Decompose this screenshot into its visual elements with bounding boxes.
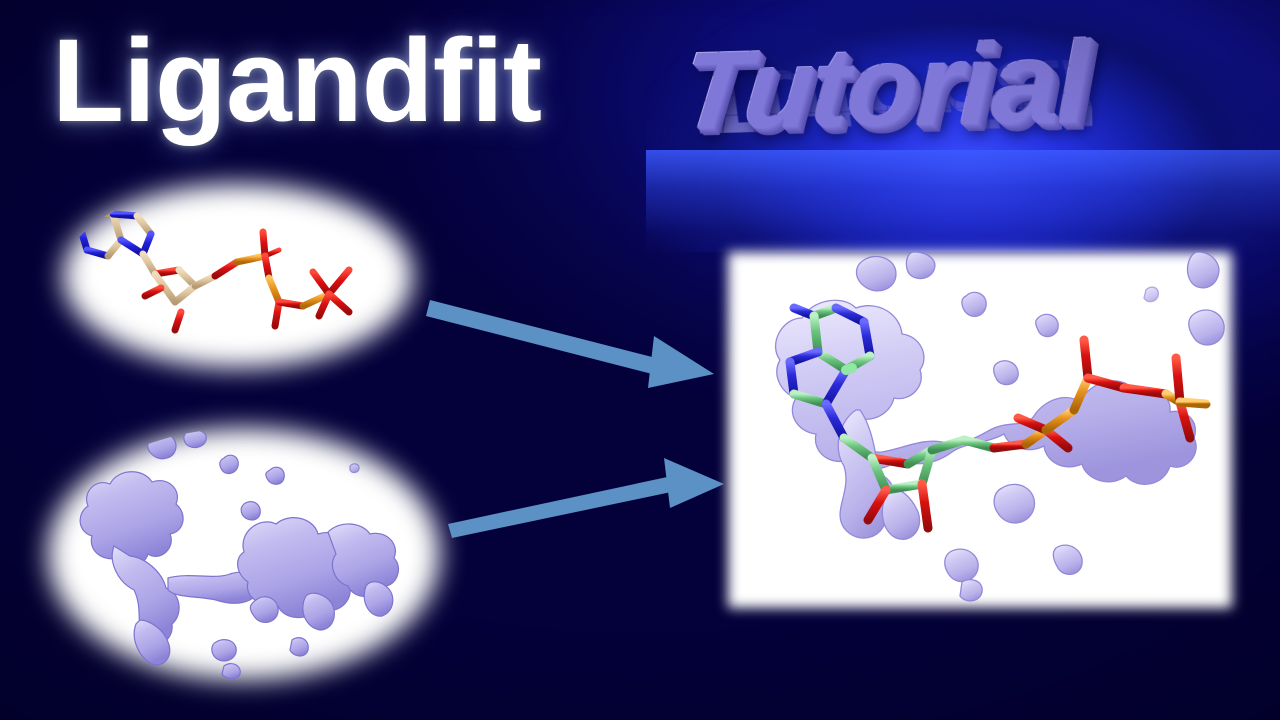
- page-title: Ligandfit: [52, 22, 541, 140]
- arrow-density-to-result: [448, 458, 726, 540]
- density-map-panel[interactable]: [48, 428, 440, 680]
- ligand-model-panel[interactable]: [63, 184, 413, 368]
- arrow-right-icon: [448, 458, 726, 540]
- fitted-result-panel[interactable]: [728, 252, 1232, 608]
- molecule-icon: [63, 184, 413, 368]
- arrow-ligand-to-result: [426, 286, 722, 390]
- density-surface-icon: [48, 428, 440, 680]
- arrow-right-icon: [426, 286, 722, 390]
- slide-canvas: Tutorial Tutorial Ligandfit: [0, 0, 1280, 720]
- fitted-molecule-density-icon: [728, 252, 1232, 608]
